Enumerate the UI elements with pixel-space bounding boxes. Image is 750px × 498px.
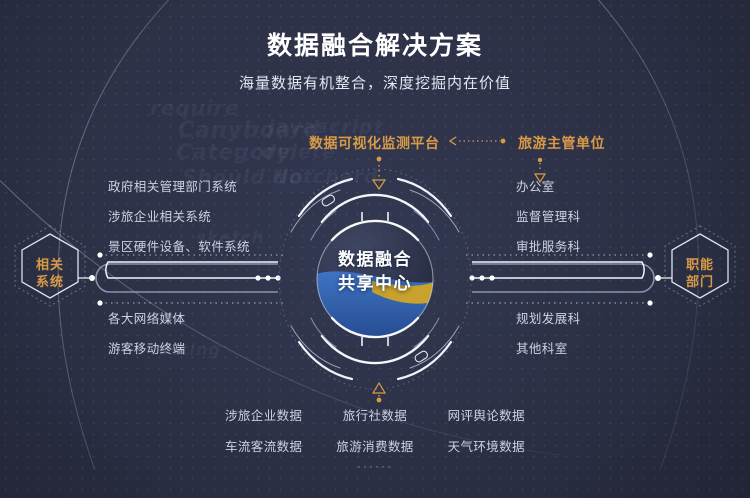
core-label-line1: 数据融合 xyxy=(305,248,445,272)
connector-right-dot-b xyxy=(479,275,484,280)
connector-right-node-bottom xyxy=(647,300,652,305)
dropline-right-dot xyxy=(538,158,542,162)
hexagon-left-label-line2: 系统 xyxy=(20,273,80,290)
connector-left-node-top xyxy=(97,252,102,257)
hexagon-right-label: 职能 部门 xyxy=(670,256,730,290)
arrow-bottom-triangle-icon xyxy=(373,383,385,393)
hexagon-right-label-line2: 部门 xyxy=(670,273,730,290)
bottom-ellipsis: ······ xyxy=(0,459,750,473)
arrow-top-labels-link xyxy=(450,137,505,145)
list-item[interactable]: 车流客流数据 xyxy=(225,436,302,455)
arrow-top-triangle-icon xyxy=(373,180,385,189)
list-item[interactable]: 游客移动终端 xyxy=(108,338,185,357)
connector-left-dot-c xyxy=(275,275,280,280)
left-top-source-list: 政府相关管理部门系统 涉旅企业相关系统 景区硬件设备、软件系统 xyxy=(108,176,250,266)
hexagon-right-label-line1: 职能 xyxy=(670,256,730,273)
table-row: 车流客流数据 旅游消费数据 天气环境数据 xyxy=(225,436,525,455)
list-item[interactable]: 政府相关管理部门系统 xyxy=(108,176,250,195)
list-item[interactable]: 涉旅企业数据 xyxy=(225,405,302,424)
core-sphere-label: 数据融合 共享中心 xyxy=(305,248,445,296)
arrow-top-into-ring xyxy=(373,157,385,189)
list-item[interactable]: 规划发展科 xyxy=(516,308,581,327)
arrow-bottom-dot xyxy=(377,398,382,403)
arrow-bottom-into-ring xyxy=(373,383,385,404)
page-title: 数据融合解决方案 xyxy=(0,26,750,62)
connector-left-dot-a xyxy=(255,275,260,280)
label-tourism-authority[interactable]: 旅游主管单位 xyxy=(518,133,605,153)
list-item[interactable]: 审批服务科 xyxy=(516,236,581,255)
ring-node-lower-right xyxy=(414,350,429,363)
arrow-top-dot xyxy=(377,157,382,162)
connector-right-node-top xyxy=(647,252,652,257)
list-item[interactable]: 办公室 xyxy=(516,176,581,195)
infographic-canvas: require Canyboard javascript Category de… xyxy=(0,0,750,498)
right-bottom-department-list: 规划发展科 其他科室 xyxy=(516,308,581,368)
arrow-link-dot xyxy=(501,139,506,144)
list-item[interactable]: 涉旅企业相关系统 xyxy=(108,206,250,225)
table-row: 涉旅企业数据 旅行社数据 网评舆论数据 xyxy=(225,405,525,424)
connector-right-dot-a xyxy=(489,275,494,280)
right-top-department-list: 办公室 监督管理科 审批服务科 xyxy=(516,176,581,266)
list-item[interactable]: 天气环境数据 xyxy=(448,436,525,455)
list-item[interactable]: 旅行社数据 xyxy=(343,405,408,424)
list-item[interactable]: 网评舆论数据 xyxy=(448,405,525,424)
left-bottom-source-list: 各大网络媒体 游客移动终端 xyxy=(108,308,185,368)
list-item[interactable]: 其他科室 xyxy=(516,338,581,357)
list-item[interactable]: 各大网络媒体 xyxy=(108,308,185,327)
hexagon-left-label: 相关 系统 xyxy=(20,256,80,290)
label-visualization-platform[interactable]: 数据可视化监测平台 xyxy=(309,133,440,153)
arrow-left-head-icon xyxy=(450,137,456,145)
connector-left-node-bottom xyxy=(97,300,102,305)
list-item[interactable]: 监督管理科 xyxy=(516,206,581,225)
connector-left-dot-b xyxy=(265,275,270,280)
ring-node-upper-left xyxy=(321,194,336,207)
page-subtitle: 海量数据有机整合，深度挖掘内在价值 xyxy=(0,72,750,93)
hexagon-left-label-line1: 相关 xyxy=(20,256,80,273)
core-label-line2: 共享中心 xyxy=(305,272,445,296)
connector-right-dot-c xyxy=(469,275,474,280)
list-item[interactable]: 旅游消费数据 xyxy=(336,436,413,455)
list-item[interactable]: 景区硬件设备、软件系统 xyxy=(108,236,250,255)
bottom-data-categories: 涉旅企业数据 旅行社数据 网评舆论数据 车流客流数据 旅游消费数据 天气环境数据 xyxy=(225,405,525,467)
